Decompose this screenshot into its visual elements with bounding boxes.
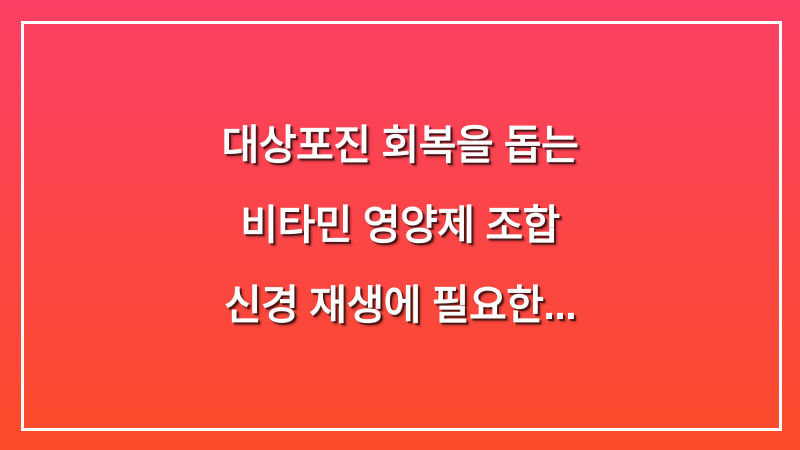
headline-line-3: 신경 재생에 필요한... (0, 265, 800, 345)
thumbnail-card: 대상포진 회복을 돕는 비타민 영양제 조합 신경 재생에 필요한... (0, 0, 800, 450)
headline-line-1: 대상포진 회복을 돕는 (0, 105, 800, 185)
headline-line-2: 비타민 영양제 조합 (0, 185, 800, 265)
headline-text-block: 대상포진 회복을 돕는 비타민 영양제 조합 신경 재생에 필요한... (0, 0, 800, 450)
